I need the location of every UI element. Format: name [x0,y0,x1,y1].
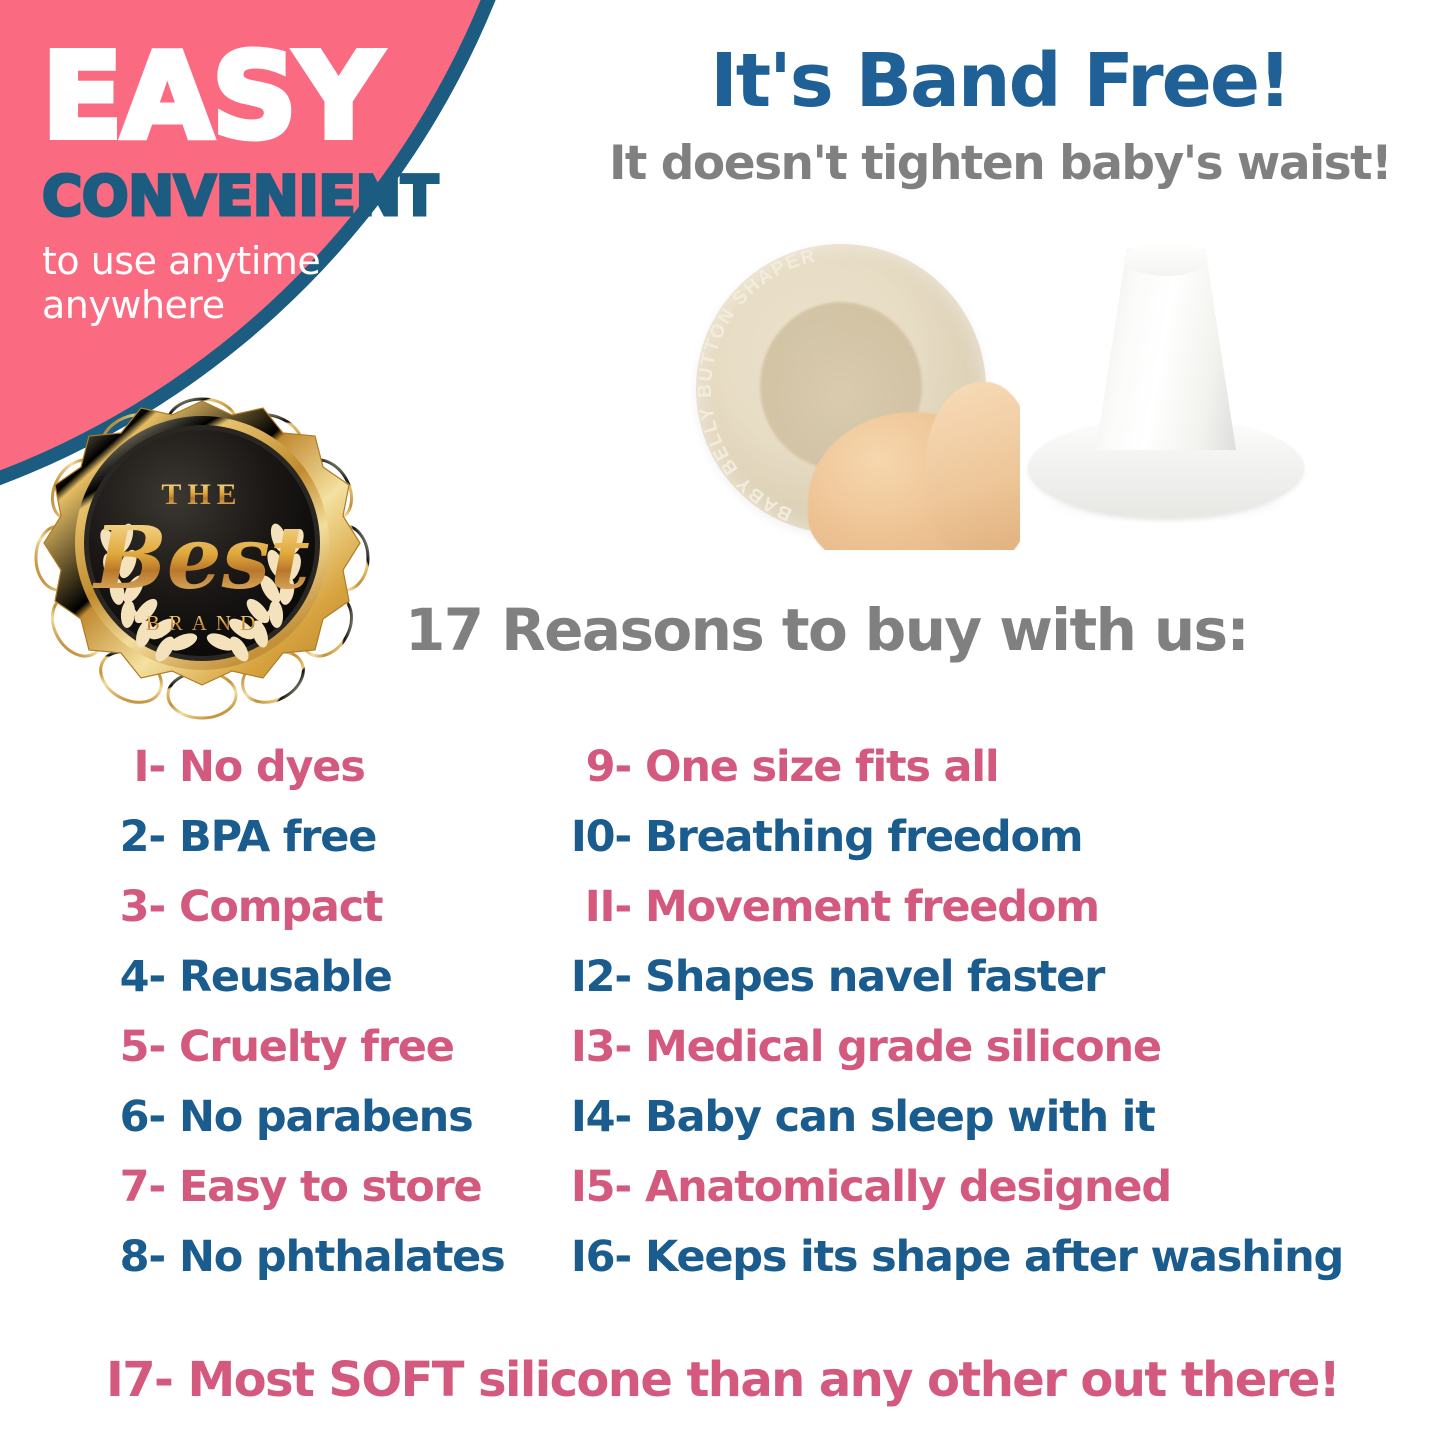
reason-number: 8- [95,1232,165,1282]
reason-item: II-Movement freedom [553,882,1423,952]
shaper-disc-photo: BABY BELLY BUTTON SHAPER [690,232,1020,550]
reason-item: 8-No phthalates [95,1232,535,1302]
reason-item: I6-Keeps its shape after washing [553,1232,1423,1302]
reason-label: One size fits all [645,742,998,792]
reason-item: 6-No parabens [95,1092,535,1162]
cone-body [1096,248,1236,450]
reason-item: I3-Medical grade silicone [553,1022,1423,1092]
reason-17-final: I7- Most SOFT silicone than any other ou… [0,1352,1445,1408]
reason-number: II- [553,882,631,932]
reason-item: I5-Anatomically designed [553,1162,1423,1232]
reason-label: Anatomically designed [645,1162,1171,1212]
reason-item: 2-BPA free [95,812,535,882]
promo-tagline-line1: to use anytime [42,240,442,284]
promo-tagline: to use anytime anywhere [42,240,442,327]
badge-main-text: Best [91,508,310,609]
reason-label: No parabens [179,1092,472,1142]
reason-item: I2-Shapes navel faster [553,952,1423,1022]
reason-item: I4-Baby can sleep with it [553,1092,1423,1162]
reason-label: Baby can sleep with it [645,1092,1155,1142]
badge-top-text: THE [161,478,242,511]
reason-number: 3- [95,882,165,932]
reason-label: Medical grade silicone [645,1022,1161,1072]
shaper-cone-photo [1000,232,1330,552]
reason-number: 9- [553,742,631,792]
reason-item: 3-Compact [95,882,535,952]
reason-number: 7- [95,1162,165,1212]
reason-item: 7-Easy to store [95,1162,535,1232]
reason-number: I6- [553,1232,631,1282]
promo-subheadline: CONVENIENT [42,169,442,224]
reason-number: I2- [553,952,631,1002]
page-subtitle: It doesn't tighten baby's waist! [560,140,1440,187]
infographic-canvas: EASY CONVENIENT to use anytime anywhere [0,0,1445,1446]
reasons-column-left: I-No dyes2-BPA free3-Compact4-Reusable5-… [95,742,535,1302]
reason-item: 4-Reusable [95,952,535,1022]
reason-label: Shapes navel faster [645,952,1104,1002]
reason-number: 5- [95,1022,165,1072]
reason-label: Reusable [179,952,392,1002]
reason-label: No phthalates [179,1232,505,1282]
reason-item: I-No dyes [95,742,535,812]
disc-embossed-label: BABY BELLY BUTTON SHAPER [696,245,819,524]
reason-label: Movement freedom [645,882,1099,932]
reason-label: Breathing freedom [645,812,1082,862]
reason-label: Compact [179,882,382,932]
reason-label: Easy to store [179,1162,482,1212]
cone-top-dome [1124,242,1208,276]
promo-text-block: EASY CONVENIENT to use anytime anywhere [42,40,442,328]
reason-number: 4- [95,952,165,1002]
reason-label: BPA free [179,812,376,862]
reason-item: 5-Cruelty free [95,1022,535,1092]
reason-number: I4- [553,1092,631,1142]
reason-item: 9-One size fits all [553,742,1423,812]
reason-number: I3- [553,1022,631,1072]
reason-label: Keeps its shape after washing [645,1232,1343,1282]
promo-headline: EASY [42,40,442,153]
promo-tagline-line2: anywhere [42,284,442,328]
reason-item: I0-Breathing freedom [553,812,1423,882]
reason-label: Cruelty free [179,1022,454,1072]
reason-number: 2- [95,812,165,862]
reasons-column-right: 9-One size fits allI0-Breathing freedomI… [553,742,1423,1302]
badge-seal-icon: THE Best BRAND [33,392,371,724]
reason-number: I0- [553,812,631,862]
badge-bottom-text: BRAND [146,611,265,635]
page-title: It's Band Free! [560,44,1440,118]
reason-number: 6- [95,1092,165,1142]
reason-number: I5- [553,1162,631,1212]
product-photo-group: BABY BELLY BUTTON SHAPER [660,232,1330,562]
reasons-heading: 17 Reasons to buy with us: [405,596,1425,664]
best-brand-badge: THE Best BRAND [33,392,371,724]
reason-number: I- [95,742,165,792]
reason-label: No dyes [179,742,365,792]
